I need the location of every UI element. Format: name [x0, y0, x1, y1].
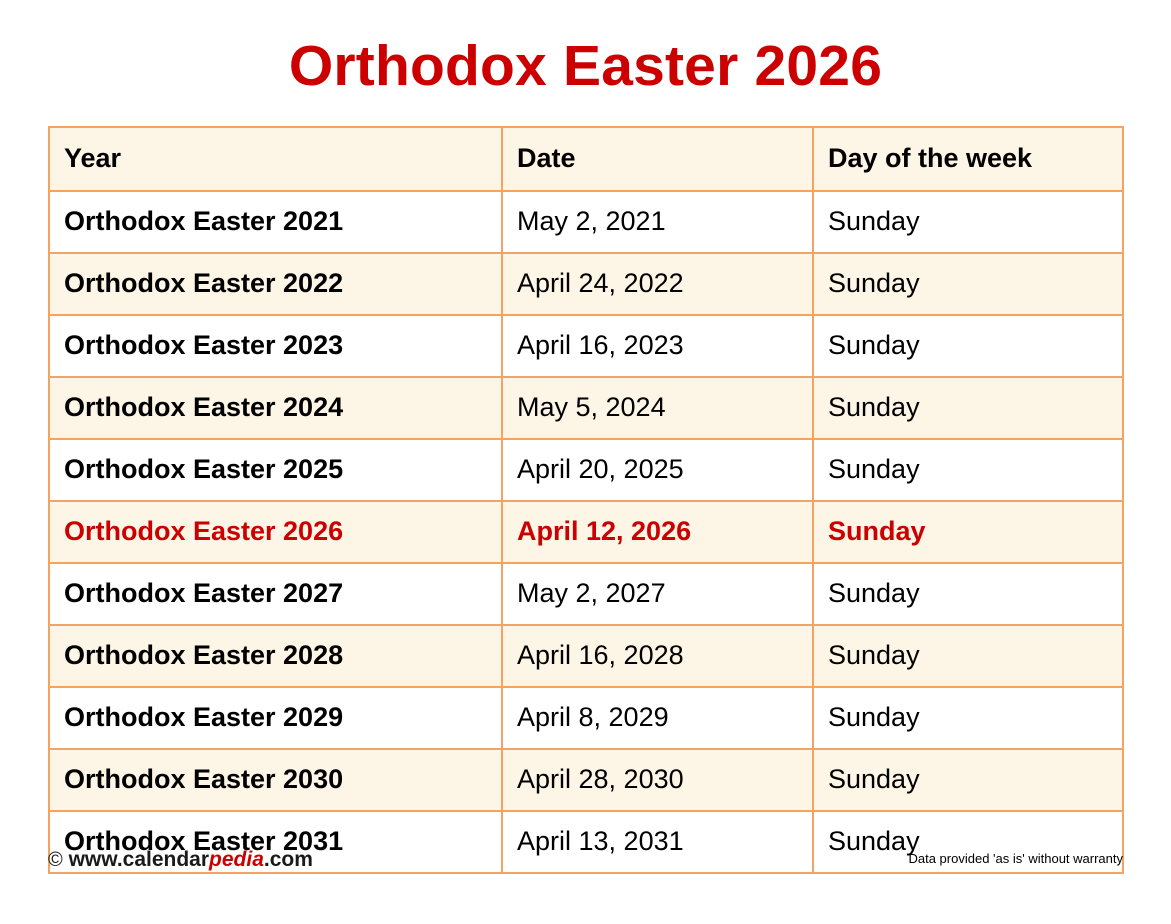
- cell-day-of-week: Sunday: [813, 191, 1123, 253]
- easter-dates-table: Year Date Day of the week Orthodox Easte…: [48, 126, 1124, 874]
- cell-day-of-week: Sunday: [813, 253, 1123, 315]
- page-root: Orthodox Easter 2026 Year Date Day of th…: [0, 0, 1171, 924]
- cell-date: April 28, 2030: [502, 749, 813, 811]
- cell-day-of-week: Sunday: [813, 501, 1123, 563]
- cell-date: April 8, 2029: [502, 687, 813, 749]
- cell-date: April 20, 2025: [502, 439, 813, 501]
- column-header-date: Date: [502, 127, 813, 191]
- cell-year: Orthodox Easter 2028: [49, 625, 502, 687]
- brand-suffix: .com: [264, 848, 313, 871]
- brand-accent: pedia: [209, 848, 264, 871]
- table-row: Orthodox Easter 2022April 24, 2022Sunday: [49, 253, 1123, 315]
- column-header-day-of-the-week: Day of the week: [813, 127, 1123, 191]
- table-header: Year Date Day of the week: [49, 127, 1123, 191]
- cell-date: May 5, 2024: [502, 377, 813, 439]
- table-body: Orthodox Easter 2021May 2, 2021SundayOrt…: [49, 191, 1123, 873]
- table-row: Orthodox Easter 2028April 16, 2028Sunday: [49, 625, 1123, 687]
- column-header-year: Year: [49, 127, 502, 191]
- easter-dates-table-container: Year Date Day of the week Orthodox Easte…: [48, 126, 1122, 874]
- cell-year: Orthodox Easter 2029: [49, 687, 502, 749]
- cell-year: Orthodox Easter 2021: [49, 191, 502, 253]
- table-row: Orthodox Easter 2027May 2, 2027Sunday: [49, 563, 1123, 625]
- table-row-highlighted: Orthodox Easter 2026April 12, 2026Sunday: [49, 501, 1123, 563]
- cell-day-of-week: Sunday: [813, 625, 1123, 687]
- table-row: Orthodox Easter 2025April 20, 2025Sunday: [49, 439, 1123, 501]
- cell-year: Orthodox Easter 2022: [49, 253, 502, 315]
- cell-year: Orthodox Easter 2027: [49, 563, 502, 625]
- cell-date: May 2, 2021: [502, 191, 813, 253]
- cell-date: April 16, 2023: [502, 315, 813, 377]
- cell-day-of-week: Sunday: [813, 315, 1123, 377]
- cell-day-of-week: Sunday: [813, 749, 1123, 811]
- cell-date: April 16, 2028: [502, 625, 813, 687]
- table-row: Orthodox Easter 2024May 5, 2024Sunday: [49, 377, 1123, 439]
- cell-day-of-week: Sunday: [813, 563, 1123, 625]
- cell-year: Orthodox Easter 2026: [49, 501, 502, 563]
- cell-date: April 12, 2026: [502, 501, 813, 563]
- cell-date: May 2, 2027: [502, 563, 813, 625]
- cell-date: April 24, 2022: [502, 253, 813, 315]
- table-row: Orthodox Easter 2021May 2, 2021Sunday: [49, 191, 1123, 253]
- table-row: Orthodox Easter 2029April 8, 2029Sunday: [49, 687, 1123, 749]
- cell-day-of-week: Sunday: [813, 377, 1123, 439]
- cell-year: Orthodox Easter 2024: [49, 377, 502, 439]
- page-footer: © www.calendarpedia.com Data provided 'a…: [48, 848, 1123, 888]
- cell-day-of-week: Sunday: [813, 687, 1123, 749]
- brand-prefix: www.calendar: [69, 848, 209, 871]
- table-row: Orthodox Easter 2030April 28, 2030Sunday: [49, 749, 1123, 811]
- copyright-notice: © www.calendarpedia.com: [48, 848, 313, 872]
- cell-year: Orthodox Easter 2025: [49, 439, 502, 501]
- page-title: Orthodox Easter 2026: [0, 0, 1171, 95]
- disclaimer-text: Data provided 'as is' without warranty: [908, 851, 1123, 866]
- table-header-row: Year Date Day of the week: [49, 127, 1123, 191]
- cell-year: Orthodox Easter 2030: [49, 749, 502, 811]
- cell-day-of-week: Sunday: [813, 439, 1123, 501]
- copyright-icon: ©: [48, 849, 63, 871]
- table-row: Orthodox Easter 2023April 16, 2023Sunday: [49, 315, 1123, 377]
- cell-year: Orthodox Easter 2023: [49, 315, 502, 377]
